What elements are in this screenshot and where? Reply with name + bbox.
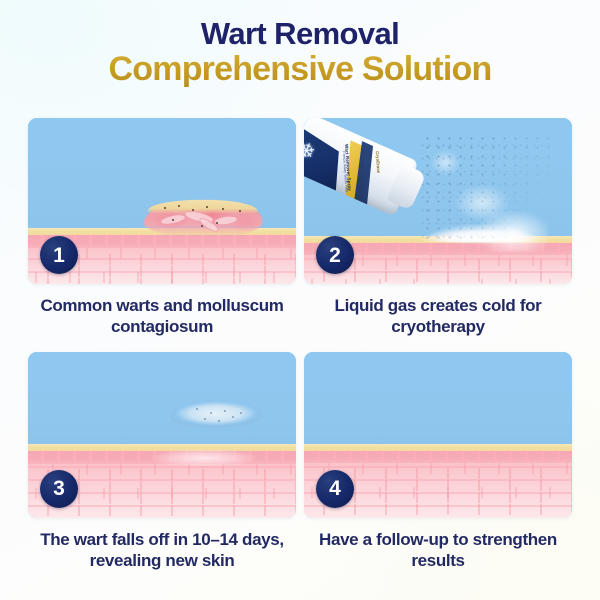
step-4-illustration: 4 bbox=[304, 352, 572, 518]
steps-grid: 1 Common warts and molluscum contagiosum bbox=[28, 118, 572, 572]
scab-fleck bbox=[232, 416, 234, 418]
title-line-secondary: Comprehensive Solution bbox=[0, 52, 600, 87]
epidermis-layer bbox=[304, 451, 572, 463]
page-title: Wart Removal Comprehensive Solution bbox=[0, 18, 600, 88]
step-card-4: 4 Have a follow-up to strengthen results bbox=[304, 352, 572, 572]
scab-fleck bbox=[204, 418, 206, 420]
step-number-badge: 4 bbox=[316, 470, 354, 508]
step-3-illustration: 3 bbox=[28, 352, 296, 518]
wart-lesion bbox=[144, 200, 262, 236]
new-skin-patch bbox=[144, 450, 264, 466]
scab-fleck bbox=[224, 410, 226, 412]
step-1-illustration: 1 bbox=[28, 118, 296, 284]
scab-fleck bbox=[210, 412, 212, 414]
skin-cell-row bbox=[28, 505, 296, 516]
step-caption: The wart falls off in 10–14 days, reveal… bbox=[28, 529, 296, 572]
canister-brand-text: CryoErase bbox=[375, 151, 382, 173]
step-2-illustration: ❄ CryoErase Wart Remover Spray Freeze Aw… bbox=[304, 118, 572, 284]
step-caption: Common warts and molluscum contagiosum bbox=[28, 295, 296, 338]
step-card-2: ❄ CryoErase Wart Remover Spray Freeze Aw… bbox=[304, 118, 572, 338]
step-number-badge: 1 bbox=[40, 236, 78, 274]
wart-removal-infographic: Wart Removal Comprehensive Solution bbox=[0, 0, 600, 600]
step-caption: Have a follow-up to strengthen results bbox=[304, 529, 572, 572]
stratum-corneum-layer bbox=[304, 444, 572, 451]
air-layer bbox=[28, 352, 296, 448]
title-line-primary: Wart Removal bbox=[0, 18, 600, 50]
skin-cell-row bbox=[304, 271, 572, 282]
step-card-1: 1 Common warts and molluscum contagiosum bbox=[28, 118, 296, 338]
step-caption: Liquid gas creates cold for cryotherapy bbox=[304, 295, 572, 338]
scab-fleck bbox=[218, 420, 220, 422]
cryo-spray-particles bbox=[422, 134, 552, 244]
step-number-badge: 3 bbox=[40, 470, 78, 508]
detached-wart-scab bbox=[170, 398, 262, 428]
air-layer bbox=[304, 352, 572, 448]
scab-fleck bbox=[240, 412, 242, 414]
step-number-badge: 2 bbox=[316, 236, 354, 274]
step-card-3: 3 The wart falls off in 10–14 days, reve… bbox=[28, 352, 296, 572]
skin-cell-row bbox=[28, 278, 296, 284]
scab-fleck bbox=[196, 408, 198, 410]
